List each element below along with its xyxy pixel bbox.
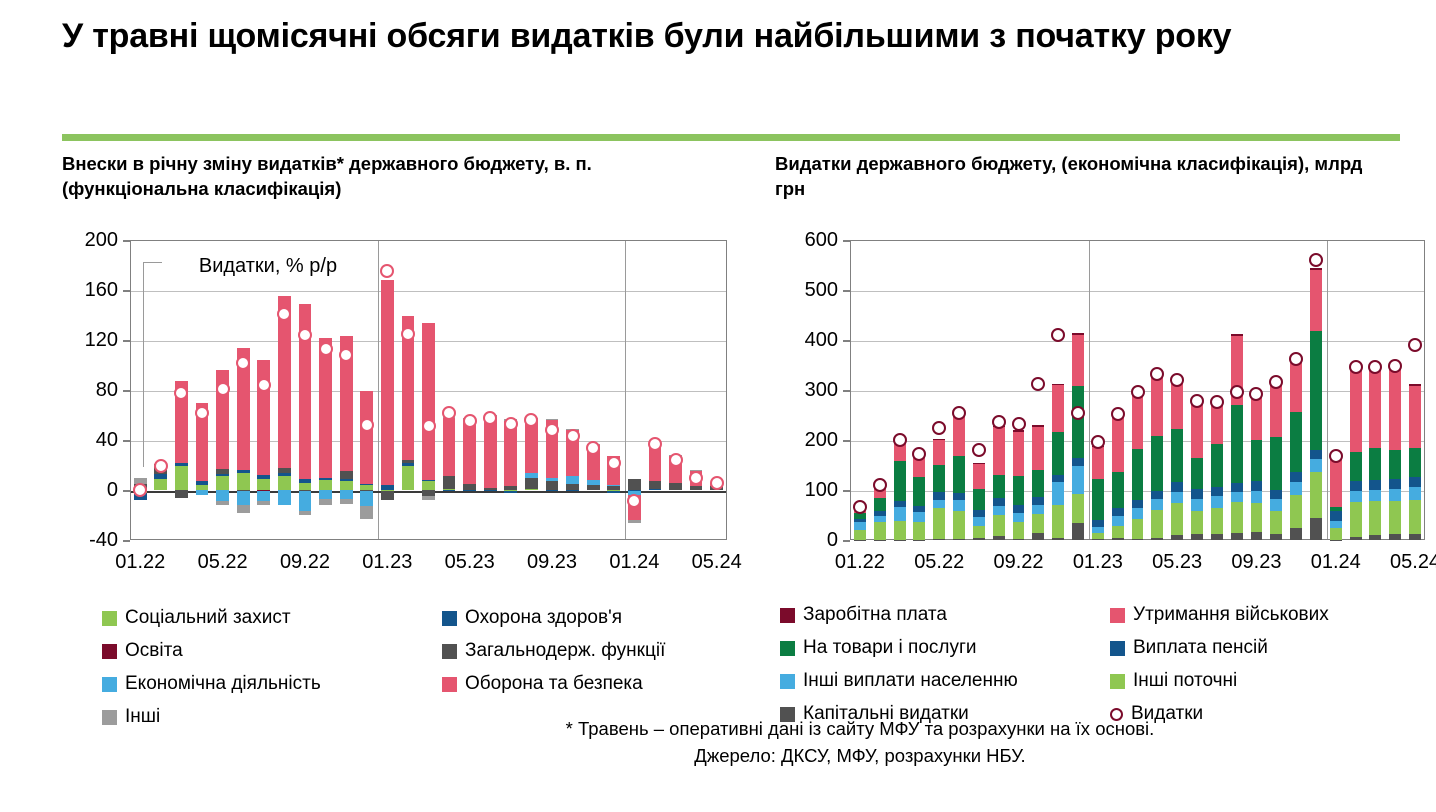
legend-item-wages[interactable]: Заробітна плата <box>780 604 1110 626</box>
bar-segment <box>1389 489 1401 501</box>
x-axis-tick-label: 05.24 <box>1390 552 1436 572</box>
bar-segment <box>649 481 662 489</box>
bar-group[interactable] <box>1369 240 1381 540</box>
bar-segment <box>402 466 415 490</box>
left-chart-legend: Соціальний захистОхорона здоров'яОсвітаЗ… <box>102 607 772 728</box>
bar-segment <box>216 469 229 474</box>
bar-segment <box>1251 532 1263 541</box>
expenditure-marker <box>401 327 415 341</box>
legend-swatch-wages-icon <box>780 608 795 623</box>
expenditure-marker <box>1031 377 1045 391</box>
bar-segment <box>443 476 456 489</box>
bar-segment <box>216 490 229 501</box>
right-chart-legend: Заробітна платаУтримання військовихНа то… <box>780 604 1430 725</box>
legend-label: Інші виплати населенню <box>803 670 1018 692</box>
x-axis-tick-label: 09.22 <box>280 552 330 572</box>
bar-segment <box>1092 479 1104 520</box>
bar-group[interactable] <box>1072 240 1084 540</box>
bar-segment <box>1032 533 1044 541</box>
bar-segment <box>1389 479 1401 489</box>
bar-segment <box>1013 539 1025 541</box>
bar-segment <box>1409 534 1421 541</box>
bar-segment <box>1132 393 1144 449</box>
legend-item-education[interactable]: Освіта <box>102 640 442 662</box>
expenditure-marker <box>1408 338 1422 352</box>
bar-segment <box>237 470 250 473</box>
bar-segment <box>1112 516 1124 526</box>
y-tickmark <box>123 390 130 392</box>
expenditure-marker <box>216 382 230 396</box>
bar-segment <box>1330 540 1342 541</box>
y-axis-tick-label: 0 <box>62 480 118 500</box>
legend-label: Освіта <box>125 640 183 662</box>
bar-segment <box>360 506 373 519</box>
bar-segment <box>546 490 559 491</box>
bar-segment <box>1112 472 1124 508</box>
bar-segment <box>546 419 559 420</box>
expenditure-marker <box>1051 328 1065 342</box>
year-separator <box>625 241 626 539</box>
bar-segment <box>1231 483 1243 492</box>
bar-segment <box>973 464 985 489</box>
legend-item-general-state-functions[interactable]: Загальнодерж. функції <box>442 640 772 662</box>
bar-segment <box>1369 535 1381 540</box>
bar-segment <box>1072 466 1084 494</box>
bar-segment <box>1211 508 1223 535</box>
y-axis-tick-label: -40 <box>62 530 118 550</box>
bar-group[interactable] <box>913 240 925 540</box>
legend-swatch-pension-payments-icon <box>1110 641 1125 656</box>
bar-group[interactable] <box>1409 240 1421 540</box>
bar-segment <box>953 456 965 493</box>
bar-segment <box>1132 519 1144 539</box>
bar-group[interactable] <box>993 240 1005 540</box>
bar-segment <box>1290 528 1302 541</box>
slide-root: У травні щомісячні обсяги видатків були … <box>0 0 1436 812</box>
bar-group[interactable] <box>463 240 476 540</box>
bar-segment <box>1251 503 1263 532</box>
bar-segment <box>175 466 188 490</box>
bar-segment <box>1092 447 1104 479</box>
legend-swatch-goods-and-services-icon <box>780 641 795 656</box>
bar-segment <box>1112 526 1124 539</box>
bar-group[interactable] <box>299 240 312 540</box>
bar-segment <box>1092 533 1104 539</box>
bar-group[interactable] <box>443 240 456 540</box>
expenditure-marker <box>1349 360 1363 374</box>
bar-group[interactable] <box>649 240 662 540</box>
bar-segment <box>1389 367 1401 450</box>
bar-segment <box>1270 437 1282 490</box>
bar-group[interactable] <box>690 240 703 540</box>
bar-segment <box>237 491 250 505</box>
bar-segment <box>1211 403 1223 445</box>
bar-segment <box>1330 507 1342 511</box>
bar-segment <box>1350 491 1362 502</box>
bar-segment <box>1251 491 1263 503</box>
bar-group[interactable] <box>953 240 965 540</box>
footnote-line-1: * Травень – оперативні дані із сайту МФУ… <box>440 716 1280 743</box>
bar-segment <box>1072 458 1084 466</box>
bar-segment <box>1013 513 1025 522</box>
bar-group[interactable] <box>566 240 579 540</box>
bar-segment <box>993 427 1005 475</box>
bar-segment <box>504 421 517 486</box>
y-axis-tick-label: 100 <box>775 480 838 500</box>
bar-group[interactable] <box>1350 240 1362 540</box>
bar-segment <box>1132 508 1144 519</box>
bar-segment <box>1171 382 1183 429</box>
legend-label: Оборона та безпека <box>465 673 643 695</box>
right-panel: Видатки державного бюджету, (економічна … <box>775 152 1435 792</box>
bar-segment <box>546 478 559 482</box>
y-tickmark <box>123 440 130 442</box>
bar-segment <box>299 511 312 515</box>
bar-group[interactable] <box>933 240 945 540</box>
bar-segment <box>1290 360 1302 412</box>
bar-group[interactable] <box>504 240 517 540</box>
bar-group[interactable] <box>360 240 373 540</box>
expenditure-marker <box>1329 449 1343 463</box>
bar-segment <box>933 439 945 441</box>
bar-segment <box>1032 425 1044 427</box>
bar-segment <box>1369 480 1381 490</box>
bar-group[interactable] <box>381 240 394 540</box>
bar-group[interactable] <box>422 240 435 540</box>
y-tickmark <box>123 240 130 242</box>
bar-segment <box>484 488 497 491</box>
bar-segment <box>1191 511 1203 534</box>
expenditure-marker <box>932 421 946 435</box>
bar-segment <box>504 486 517 490</box>
bar-segment <box>340 490 353 499</box>
legend-item-healthcare[interactable]: Охорона здоров'я <box>442 607 772 629</box>
bar-segment <box>278 468 291 473</box>
bar-segment <box>422 323 435 481</box>
accent-divider <box>62 134 1400 141</box>
bar-segment <box>1052 475 1064 483</box>
legend-item-other-payments-to-population[interactable]: Інші виплати населенню <box>780 670 1110 692</box>
bar-segment <box>874 511 886 516</box>
bar-segment <box>216 474 229 477</box>
legend-label: Охорона здоров'я <box>465 607 622 629</box>
bar-segment <box>913 506 925 513</box>
bar-segment <box>953 511 965 539</box>
expenditure-marker <box>195 406 209 420</box>
bar-segment <box>422 481 435 490</box>
bar-segment <box>1310 331 1322 450</box>
bar-segment <box>854 522 866 530</box>
legend-label: Заробітна плата <box>803 604 947 626</box>
bar-segment <box>1330 511 1342 521</box>
legend-item-economic-activity[interactable]: Економічна діяльність <box>102 673 442 695</box>
y-axis-tick-label: 400 <box>775 330 838 350</box>
bar-segment <box>1350 452 1362 481</box>
y-axis-tick-label: 120 <box>62 330 118 350</box>
legend-swatch-education-icon <box>102 644 117 659</box>
legend-item-other-current[interactable]: Інші поточні <box>1110 670 1430 692</box>
bar-segment <box>381 280 394 485</box>
legend-item-pension-payments[interactable]: Виплата пенсій <box>1110 637 1430 659</box>
bar-segment <box>154 474 167 479</box>
bar-group[interactable] <box>1211 240 1223 540</box>
bar-segment <box>525 478 538 489</box>
bar-segment <box>1052 482 1064 505</box>
bar-segment <box>628 479 641 490</box>
legend-swatch-other-payments-to-population-icon <box>780 674 795 689</box>
bar-segment <box>1132 449 1144 501</box>
bar-segment <box>973 517 985 527</box>
bar-segment <box>1270 534 1282 540</box>
bar-segment <box>1052 432 1064 475</box>
bar-group[interactable] <box>1171 240 1183 540</box>
legend-swatch-military-upkeep-icon <box>1110 608 1125 623</box>
bar-segment <box>1151 491 1163 499</box>
bar-segment <box>443 418 456 477</box>
expenditure-marker <box>992 415 1006 429</box>
bar-group[interactable] <box>1270 240 1282 540</box>
expenditure-marker <box>236 356 250 370</box>
bar-segment <box>1151 510 1163 538</box>
bar-segment <box>1211 444 1223 487</box>
bar-segment <box>1013 476 1025 505</box>
bar-segment <box>1409 448 1421 477</box>
bar-segment <box>299 479 312 483</box>
expenditure-marker <box>1091 435 1105 449</box>
bar-segment <box>1072 333 1084 335</box>
bar-segment <box>1171 482 1183 492</box>
bar-segment <box>894 540 906 541</box>
x-axis-tick-label: 05.22 <box>914 552 964 572</box>
bar-segment <box>566 490 579 491</box>
bar-group[interactable] <box>1112 240 1124 540</box>
legend-item-other[interactable]: Інші <box>102 706 442 728</box>
expenditure-marker <box>607 456 621 470</box>
bar-segment <box>1409 384 1421 386</box>
bar-segment <box>463 484 476 490</box>
bar-group[interactable] <box>973 240 985 540</box>
bar-segment <box>1231 334 1243 336</box>
bar-segment <box>1270 499 1282 511</box>
bar-segment <box>319 478 332 481</box>
bar-segment <box>1032 514 1044 533</box>
bar-group[interactable] <box>1052 240 1064 540</box>
bar-segment <box>953 414 965 456</box>
bar-segment <box>933 508 945 539</box>
bar-segment <box>669 483 682 491</box>
bar-segment <box>1409 500 1421 534</box>
expenditure-marker <box>545 423 559 437</box>
expenditure-marker <box>298 328 312 342</box>
bar-segment <box>1092 520 1104 528</box>
bar-group[interactable] <box>1310 240 1322 540</box>
bar-segment <box>1409 386 1421 448</box>
bar-segment <box>1231 492 1243 503</box>
y-axis-tick-label: 200 <box>775 430 838 450</box>
bar-group[interactable] <box>1389 240 1401 540</box>
bar-group[interactable] <box>340 240 353 540</box>
expenditure-marker <box>1269 375 1283 389</box>
bar-segment <box>1112 538 1124 540</box>
bar-segment <box>1151 499 1163 510</box>
bar-segment <box>1211 534 1223 540</box>
y-axis-tick-label: 200 <box>62 230 118 250</box>
bar-segment <box>299 491 312 511</box>
bar-group[interactable] <box>1013 240 1025 540</box>
bar-segment <box>1052 384 1064 386</box>
bar-group[interactable] <box>669 240 682 540</box>
bar-group[interactable] <box>525 240 538 540</box>
bar-segment <box>278 296 291 467</box>
bar-segment <box>360 391 373 484</box>
bar-group[interactable] <box>854 240 866 540</box>
bar-segment <box>1369 369 1381 449</box>
bar-segment <box>196 490 209 495</box>
bar-segment <box>566 476 579 484</box>
bar-segment <box>854 530 866 540</box>
bar-segment <box>1389 534 1401 540</box>
x-axis-tick-label: 09.22 <box>994 552 1044 572</box>
y-tickmark <box>123 490 130 492</box>
bar-segment <box>1151 436 1163 491</box>
bar-segment <box>1330 521 1342 528</box>
bar-segment <box>216 501 229 505</box>
bar-segment <box>1032 427 1044 471</box>
page-title: У травні щомісячні обсяги видатків були … <box>62 14 1312 59</box>
bar-group[interactable] <box>1092 240 1104 540</box>
bar-segment <box>1350 537 1362 541</box>
bar-segment <box>1072 523 1084 541</box>
legend-item-goods-and-services[interactable]: На товари і послуги <box>780 637 1110 659</box>
legend-swatch-defence-security-icon <box>442 677 457 692</box>
bar-group[interactable] <box>894 240 906 540</box>
legend-item-defence-security[interactable]: Оборона та безпека <box>442 673 772 695</box>
bar-segment <box>319 499 332 505</box>
bar-segment <box>587 485 600 490</box>
bar-group[interactable] <box>484 240 497 540</box>
bar-segment <box>913 522 925 540</box>
bar-group[interactable] <box>1151 240 1163 540</box>
footnote-line-2: Джерело: ДКСУ, МФУ, розрахунки НБУ. <box>440 743 1280 770</box>
bar-segment <box>1052 385 1064 432</box>
legend-label: Соціальний захист <box>125 607 291 629</box>
x-axis-tick-label: 05.22 <box>198 552 248 572</box>
bar-segment <box>525 489 538 490</box>
bar-segment <box>607 486 620 490</box>
expenditure-marker <box>669 453 683 467</box>
bar-segment <box>1032 470 1044 497</box>
y-tickmark <box>123 290 130 292</box>
year-separator <box>378 241 379 539</box>
legend-swatch-social-protection-icon <box>102 611 117 626</box>
bar-segment <box>402 460 415 463</box>
legend-label: Виплата пенсій <box>1133 637 1268 659</box>
x-axis-tick-label: 01.22 <box>115 552 165 572</box>
bar-segment <box>1330 528 1342 540</box>
bar-segment <box>993 506 1005 515</box>
expenditure-marker <box>1111 407 1125 421</box>
bar-group[interactable] <box>278 240 291 540</box>
bar-segment <box>973 489 985 510</box>
y-axis-tick-label: 40 <box>62 430 118 450</box>
expenditure-marker <box>1289 352 1303 366</box>
legend-label: Інші <box>125 706 160 728</box>
bar-segment <box>1151 538 1163 541</box>
expenditure-marker <box>972 443 986 457</box>
bar-group[interactable] <box>196 240 209 540</box>
bar-group[interactable] <box>874 240 886 540</box>
legend-item-social-protection[interactable]: Соціальний захист <box>102 607 442 629</box>
bar-segment <box>340 479 353 482</box>
bar-segment <box>1231 405 1243 483</box>
expenditure-marker <box>442 406 456 420</box>
annotation-callout-line <box>143 262 162 467</box>
bar-segment <box>1251 396 1263 440</box>
bar-segment <box>993 536 1005 540</box>
bar-segment <box>933 539 945 540</box>
bar-segment <box>1330 458 1342 508</box>
bar-segment <box>546 481 559 490</box>
bar-group[interactable] <box>1330 240 1342 540</box>
bar-segment <box>953 500 965 511</box>
y-tickmark <box>123 340 130 342</box>
bar-segment <box>360 484 373 485</box>
bar-group[interactable] <box>237 240 250 540</box>
expenditure-marker <box>1309 253 1323 267</box>
bar-segment <box>402 463 415 467</box>
bar-group[interactable] <box>319 240 332 540</box>
y-tickmark <box>843 240 850 242</box>
left-panel: Внески в річну зміну видатків* державног… <box>62 152 742 792</box>
y-axis-tick-label: 300 <box>775 380 838 400</box>
bar-segment <box>278 473 291 477</box>
bar-segment <box>874 540 886 541</box>
bar-group[interactable] <box>587 240 600 540</box>
bar-segment <box>196 481 209 485</box>
bar-segment <box>933 440 945 465</box>
bar-segment <box>319 490 332 499</box>
expenditure-marker <box>174 386 188 400</box>
legend-swatch-healthcare-icon <box>442 611 457 626</box>
legend-item-military-upkeep[interactable]: Утримання військових <box>1110 604 1430 626</box>
year-separator <box>1089 241 1090 539</box>
bar-segment <box>1211 496 1223 508</box>
bar-segment <box>525 473 538 478</box>
bar-segment <box>484 490 497 491</box>
legend-label: Загальнодерж. функції <box>465 640 665 662</box>
bar-segment <box>257 475 270 479</box>
bar-segment <box>1270 511 1282 535</box>
bar-group[interactable] <box>1191 240 1203 540</box>
expenditure-marker <box>1012 417 1026 431</box>
bar-segment <box>874 516 886 522</box>
bar-segment <box>1052 538 1064 541</box>
bar-group[interactable] <box>710 240 723 540</box>
bar-segment <box>587 480 600 485</box>
bar-segment <box>854 519 866 522</box>
bar-group[interactable] <box>607 240 620 540</box>
bar-group[interactable] <box>402 240 415 540</box>
bar-segment <box>1231 533 1243 540</box>
bar-segment <box>237 505 250 513</box>
bar-segment <box>463 423 476 484</box>
right-chart-title: Видатки державного бюджету, (економічна … <box>775 152 1365 202</box>
bar-group[interactable] <box>546 240 559 540</box>
bar-segment <box>1191 534 1203 540</box>
legend-label: Інші поточні <box>1133 670 1237 692</box>
bar-group[interactable] <box>1290 240 1302 540</box>
bar-segment <box>1191 499 1203 512</box>
